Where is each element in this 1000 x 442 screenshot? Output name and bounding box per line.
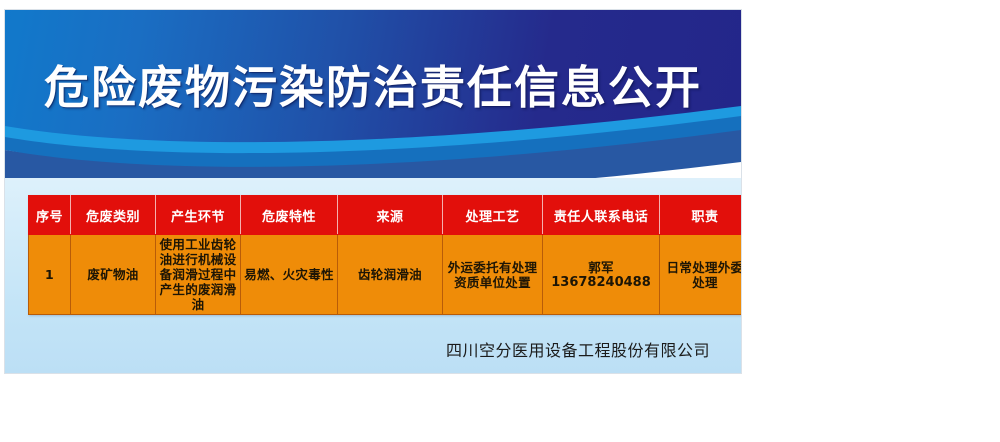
column-header-source: 来源 (338, 196, 443, 235)
cell-no: 1 (29, 235, 71, 315)
poster-banner: 危险废物污染防治责任信息公开 (5, 10, 741, 178)
page-title: 危险废物污染防治责任信息公开 (5, 60, 741, 116)
contact-phone-number: 13678240488 (545, 275, 657, 290)
column-header-duty: 职责 (660, 196, 742, 235)
column-header-stage: 产生环节 (156, 196, 241, 235)
cell-stage: 使用工业齿轮油进行机械设备润滑过程中产生的废润滑油 (156, 235, 241, 315)
cell-process: 外运委托有处理资质单位处置 (443, 235, 543, 315)
column-header-category: 危废类别 (71, 196, 156, 235)
table-header-row: 序号 危废类别 产生环节 危废特性 来源 处理工艺 责任人联系电话 职责 (29, 196, 742, 235)
column-header-no: 序号 (29, 196, 71, 235)
cell-duty: 日常处理外委处理 (660, 235, 742, 315)
hazardous-waste-table: 序号 危废类别 产生环节 危废特性 来源 处理工艺 责任人联系电话 职责 1 废… (28, 195, 741, 315)
cell-source: 齿轮润滑油 (338, 235, 443, 315)
contact-person-name: 郭军 (545, 260, 657, 275)
information-disclosure-poster: 危险废物污染防治责任信息公开 序号 危废类别 产生环节 危废特性 来源 处理工艺… (5, 10, 741, 373)
table-body: 1 废矿物油 使用工业齿轮油进行机械设备润滑过程中产生的废润滑油 易燃、火灾毒性… (29, 235, 742, 315)
table-header: 序号 危废类别 产生环节 危废特性 来源 处理工艺 责任人联系电话 职责 (29, 196, 742, 235)
column-header-process: 处理工艺 (443, 196, 543, 235)
cell-category: 废矿物油 (71, 235, 156, 315)
column-header-phone: 责任人联系电话 (543, 196, 660, 235)
column-header-characteristic: 危废特性 (241, 196, 338, 235)
cell-contact: 郭军 13678240488 (543, 235, 660, 315)
table-row: 1 废矿物油 使用工业齿轮油进行机械设备润滑过程中产生的废润滑油 易燃、火灾毒性… (29, 235, 742, 315)
cell-characteristic: 易燃、火灾毒性 (241, 235, 338, 315)
company-name: 四川空分医用设备工程股份有限公司 (5, 337, 716, 361)
